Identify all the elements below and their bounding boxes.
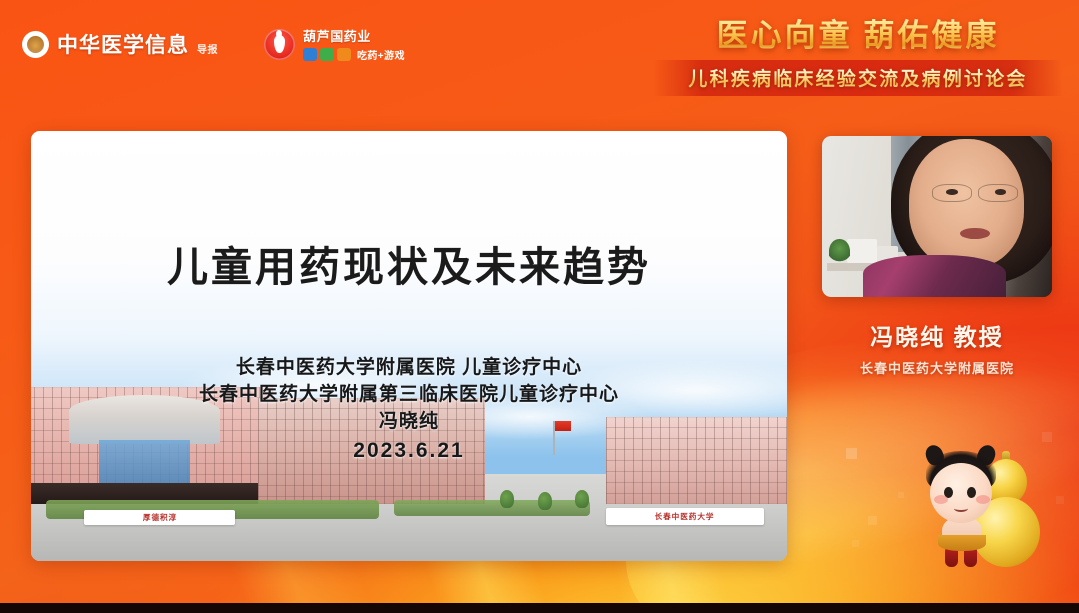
campus-tree <box>575 490 589 508</box>
gourd-badge-icon <box>264 29 295 60</box>
mascot-cheek-right <box>976 495 990 504</box>
campus-sign-left: 厚德积淳 <box>84 510 235 525</box>
video-box-1 <box>847 239 877 263</box>
mascot-head <box>930 463 992 523</box>
event-main-title: 医心向童 葫佑健康 <box>653 10 1063 55</box>
confetti-square <box>852 540 859 547</box>
logo-suffix: 导报 <box>197 41 218 59</box>
speaker-organization: 长春中医药大学附属医院 <box>822 358 1052 377</box>
slide-date: 2023.6.21 <box>31 436 787 466</box>
event-subtitle-strip: 儿科疾病临床经验交流及病例讨论会 <box>653 60 1063 96</box>
event-subtitle: 儿科疾病临床经验交流及病例讨论会 <box>653 64 1063 91</box>
confetti-square <box>868 516 877 525</box>
event-banner: 医心向童 葫佑健康 儿科疾病临床经验交流及病例讨论会 <box>653 10 1063 96</box>
header-logo-bar: 中华医学信息 导报 葫芦国药业 吃药+游戏 <box>22 26 405 62</box>
sponsor-name: 葫芦国药业 <box>303 26 405 45</box>
mascot-leaf-skirt <box>938 535 986 551</box>
logo-wordmark: 中华医学信息 <box>57 29 189 59</box>
green-chip-icon <box>320 48 334 61</box>
mascot-eye-right <box>967 487 976 498</box>
speaker-face <box>909 139 1024 268</box>
calabash-boy-mascot <box>916 443 1056 583</box>
campus-sign-right: 长春中医药大学 <box>606 508 765 525</box>
blue-chip-icon <box>303 48 317 61</box>
speaker-name: 冯晓纯 教授 <box>822 318 1052 352</box>
speaker-mouth <box>960 228 990 239</box>
cma-seal-icon <box>22 31 49 58</box>
confetti-square <box>1042 432 1052 442</box>
speaker-shirt <box>863 255 1006 297</box>
broadcast-stage: 中华医学信息 导报 葫芦国药业 吃药+游戏 医心向童 葫佑健康 儿科疾病临床经验… <box>0 0 1079 613</box>
speaker-eye-left <box>946 189 958 195</box>
slide-title: 儿童用药现状及未来趋势 <box>31 233 787 293</box>
mascot-mouth <box>954 505 968 512</box>
logo-china-medical-tribune: 中华医学信息 导报 <box>22 29 218 59</box>
slide-subtitle-block: 长春中医药大学附属医院 儿童诊疗中心 长春中医药大学附属第三临床医院儿童诊疗中心… <box>31 355 787 466</box>
slide-line-1: 长春中医药大学附属医院 儿童诊疗中心 <box>31 355 787 382</box>
campus-tree <box>500 490 514 508</box>
confetti-square <box>898 492 904 498</box>
slide-line-3: 冯晓纯 <box>31 409 787 436</box>
presentation-slide[interactable]: 厚德积淳 长春中医药大学 儿童用药现状及未来趋势 长春中医药大学附属医院 儿童诊… <box>31 131 787 561</box>
video-plant <box>829 239 850 263</box>
orange-chip-icon <box>337 48 351 61</box>
campus-tree <box>538 492 552 510</box>
confetti-square <box>1056 496 1064 504</box>
speaker-video-feed[interactable] <box>822 136 1052 297</box>
confetti-square <box>846 448 857 459</box>
speaker-caption: 冯晓纯 教授 长春中医药大学附属医院 <box>822 318 1052 377</box>
bottom-letterbox <box>0 603 1079 613</box>
slide-line-2: 长春中医药大学附属第三临床医院儿童诊疗中心 <box>31 382 787 409</box>
campus-lawn-right <box>394 500 591 515</box>
sponsor-tagline: 吃药+游戏 <box>357 47 405 62</box>
logo-sponsor: 葫芦国药业 吃药+游戏 <box>264 26 405 62</box>
speaker-eye-right <box>995 189 1007 195</box>
mascot-cheek-left <box>934 495 948 504</box>
